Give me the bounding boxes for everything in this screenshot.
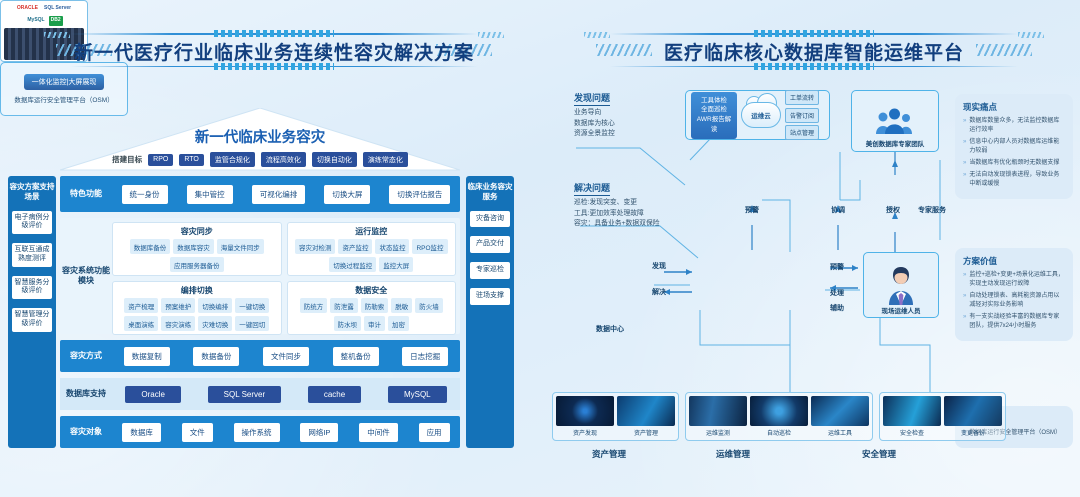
- sidebar-item-inspection[interactable]: 专家巡检: [470, 262, 510, 279]
- tool-tag-site[interactable]: 站点管理: [785, 125, 819, 140]
- card-group-asset: 资产发现 资产管理: [552, 392, 679, 441]
- find-problem-line: 资源全景监控: [574, 129, 615, 140]
- tool-main-line: AWR报告解读: [694, 115, 734, 135]
- pain-point-text: 数据库数量众多，无法监控数据库运行效率: [969, 117, 1065, 135]
- dr-mode-label: 容灾方式: [60, 351, 112, 361]
- database-support-label: 数据库支持: [60, 389, 112, 399]
- arrow-label-assist: 辅助: [830, 303, 844, 313]
- module-tag[interactable]: 审计: [364, 316, 385, 331]
- module-tag[interactable]: 海量文件同步: [217, 239, 264, 254]
- solution-value-panel: 方案价值 » 监控+巡检+变更+场景化运维工具，实现主动发现运行故障 » 自动处…: [955, 248, 1073, 341]
- module-tag[interactable]: 切换过程监控: [329, 257, 376, 272]
- dr-object-items: 数据库 文件 操作系统 网络IP 中间件 应用: [112, 423, 460, 442]
- feature-items: 统一身份 集中管控 可视化编排 切换大屏 切换评估报告: [112, 185, 460, 204]
- modules-row: 容灾系统功能模块 容灾同步 数据库备份 数据库容灾 海量文件同步 应用服务器备份…: [60, 218, 460, 334]
- banner-dots-top: [754, 30, 874, 37]
- dr-mode-chip[interactable]: 整机备份: [333, 347, 379, 366]
- solve-problem-block: 解决问题 巡检:发现突变、变更 工具:更加效率处理故障 容灾：具备业务+数据双保…: [574, 178, 660, 230]
- chevron-icon: »: [963, 138, 966, 156]
- value-item: » 监控+巡检+变更+场景化运维工具，实现主动发现运行故障: [963, 271, 1065, 289]
- module-tag[interactable]: 一键切换: [235, 298, 269, 313]
- module-tag[interactable]: 桌面演练: [124, 316, 158, 331]
- module-tag[interactable]: 灾难切换: [198, 316, 232, 331]
- goal-tag[interactable]: 流程高效化: [261, 152, 306, 167]
- pain-points-panel: 现实痛点 » 数据库数量众多，无法监控数据库运行效率 » 信息中心内部人员对数据…: [955, 94, 1073, 199]
- chevron-icon: »: [963, 117, 966, 135]
- left-page-title: 新一代医疗行业临床业务连续性容灾解决方案: [30, 38, 518, 65]
- tool-main-line: 全面巡检: [694, 105, 734, 115]
- cloud-thumb: [944, 396, 1002, 426]
- dr-object-chip[interactable]: 中间件: [359, 423, 398, 442]
- module-tag[interactable]: 防勒索: [361, 298, 389, 313]
- right-page-title: 医疗临床核心数据库智能运维平台: [570, 38, 1058, 65]
- service-sidebar: 临床业务容灾服务 灾备咨询 产品交付 专家巡检 驻场支撑: [466, 176, 514, 448]
- dr-object-chip[interactable]: 操作系统: [234, 423, 280, 442]
- chevron-icon: »: [963, 271, 966, 289]
- tools-cloud-box: 工具体检 全面巡检 AWR报告解读 运维云 工单流转 告警订阅 站点管理: [685, 90, 830, 140]
- modules-row-label: 容灾系统功能模块: [60, 218, 112, 334]
- module-tag[interactable]: 加密: [388, 316, 409, 331]
- module-card-monitor: 运行监控 容灾对检测 资产监控 状态监控 RPO监控 切换过程监控 监控大屏: [287, 222, 457, 276]
- arrow-label-warning-mid: 预警: [830, 262, 844, 272]
- goal-tag[interactable]: 演练常态化: [363, 152, 408, 167]
- module-tag[interactable]: RPO监控: [412, 239, 447, 254]
- tool-tag-list: 工单流转 告警订阅 站点管理: [785, 90, 819, 140]
- goal-tag[interactable]: RPO: [148, 154, 173, 166]
- feature-row: 特色功能 统一身份 集中管控 可视化编排 切换大屏 切换评估报告: [60, 176, 460, 212]
- feature-chip[interactable]: 集中管控: [187, 185, 233, 204]
- sidebar-item-onsite[interactable]: 驻场支撑: [470, 288, 510, 305]
- feature-chip[interactable]: 统一身份: [122, 185, 168, 204]
- sidebar-item-consulting[interactable]: 灾备咨询: [470, 211, 510, 228]
- feature-chip[interactable]: 切换大屏: [324, 185, 370, 204]
- database-chip-sqlserver[interactable]: SQL Server: [208, 386, 282, 403]
- house-roof: 新一代临床业务容灾 搭建目标 RPO RTO 监管合规化 流程高效化 切换自动化…: [60, 108, 460, 174]
- solution-value-title: 方案价值: [963, 255, 1065, 267]
- arrow-label-warning-top: 预警: [745, 205, 759, 215]
- operator-thumb: [689, 396, 747, 426]
- module-card-security: 数据安全 防统方 防泄露 防勒索 脱敏 防火墙 防水坝 审计 加密: [287, 281, 457, 335]
- value-item: » 自动处理锁表、高耗能资源占用以减轻对实际业务影响: [963, 292, 1065, 310]
- left-panel: 新一代医疗行业临床业务连续性容灾解决方案 新一代临床业务容灾 搭建目标 RPO …: [0, 0, 540, 497]
- thumb-item[interactable]: 运维工具: [811, 396, 869, 437]
- shield-thumb: [750, 396, 808, 426]
- thumb-item[interactable]: 自动巡检: [750, 396, 808, 437]
- sidebar-item-smart-mgmt[interactable]: 智慧管理分级评价: [12, 308, 52, 332]
- people-icon: [872, 108, 918, 138]
- module-title: 运行监控: [292, 226, 452, 237]
- pain-point-item: » 当数据库有优化瓶颈时无数据支撑: [963, 159, 1065, 168]
- pain-point-text: 信息中心内部人员对数据库运维能力较弱: [969, 138, 1065, 156]
- tool-main-card[interactable]: 工具体检 全面巡检 AWR报告解读: [691, 92, 737, 139]
- dr-object-chip[interactable]: 应用: [419, 423, 450, 442]
- thumb-caption: 自动巡检: [767, 428, 791, 437]
- expert-team-caption: 美创数据库专家团队: [866, 138, 925, 148]
- module-tag[interactable]: 防火墙: [415, 298, 443, 313]
- thumb-caption: 资产管理: [634, 428, 658, 437]
- thumb-item[interactable]: 变更备份: [944, 396, 1002, 437]
- find-problem-title: 发现问题: [574, 91, 610, 106]
- dr-mode-chip[interactable]: 数据复制: [124, 347, 170, 366]
- arrow-label-solve: 解决: [652, 287, 666, 297]
- radar-thumb: [556, 396, 614, 426]
- dr-mode-chip[interactable]: 数据备份: [193, 347, 239, 366]
- modules-grid: 容灾同步 数据库备份 数据库容灾 海量文件同步 应用服务器备份 运行监控 容灾对…: [112, 218, 460, 334]
- module-card-orchestration: 编排切换 资产梳理 预案维护 切换编排 一键切换 桌面演练 容灾演练 灾难切换 …: [112, 281, 282, 335]
- database-chip-oracle[interactable]: Oracle: [125, 386, 181, 403]
- solve-problem-line: 容灾：具备业务+数据双保险: [574, 219, 660, 230]
- pain-point-item: » 数据库数量众多，无法监控数据库运行效率: [963, 117, 1065, 135]
- data-center-caption: 数据中心: [566, 324, 654, 334]
- thumb-item[interactable]: 安全检查: [883, 396, 941, 437]
- solve-problem-line: 工具:更加效率处理故障: [574, 209, 660, 220]
- value-text: 监控+巡检+变更+场景化运维工具，实现主动发现运行故障: [969, 271, 1065, 289]
- module-tag[interactable]: 资产监控: [338, 239, 372, 254]
- cloud-icon: 运维云: [741, 102, 781, 128]
- thumb-caption: 变更备份: [961, 428, 985, 437]
- solve-problem-title: 解决问题: [574, 181, 610, 196]
- chevron-icon: »: [963, 313, 966, 331]
- cloud-label: 运维云: [741, 102, 781, 128]
- pain-point-text: 无法自动发现锁表进程，导致业务中断或缓慢: [969, 171, 1065, 189]
- module-tag[interactable]: 应用服务器备份: [170, 257, 224, 272]
- dr-object-row: 容灾对象 数据库 文件 操作系统 网络IP 中间件 应用: [60, 416, 460, 448]
- dr-mode-chip[interactable]: 文件同步: [263, 347, 309, 366]
- goal-tag[interactable]: 监管合规化: [210, 152, 255, 167]
- dr-object-chip[interactable]: 网络IP: [300, 423, 338, 442]
- module-card-sync: 容灾同步 数据库备份 数据库容灾 海量文件同步 应用服务器备份: [112, 222, 282, 276]
- thumb-item[interactable]: 资产管理: [617, 396, 675, 437]
- feature-chip[interactable]: 可视化编排: [252, 185, 306, 204]
- dr-object-chip[interactable]: 文件: [182, 423, 213, 442]
- dr-mode-chip[interactable]: 日志挖掘: [402, 347, 448, 366]
- onsite-staff-box[interactable]: 现场运维人员: [863, 252, 939, 318]
- module-tag[interactable]: 数据库容灾: [173, 239, 214, 254]
- module-tags: 容灾对检测 资产监控 状态监控 RPO监控 切换过程监控 监控大屏: [292, 239, 452, 272]
- sidebar-item-emr[interactable]: 电子病例分级评价: [12, 211, 52, 235]
- chevron-icon: »: [963, 171, 966, 189]
- module-tag[interactable]: 状态监控: [375, 239, 409, 254]
- database-support-row: 数据库支持 Oracle SQL Server cache MySQL: [60, 378, 460, 410]
- find-problem-line: 业务导向: [574, 108, 615, 119]
- person-icon: [881, 263, 921, 305]
- find-problem-block: 发现问题 业务导向 数据库为核心 资源全景监控: [574, 88, 615, 140]
- module-tag[interactable]: 数据库备份: [130, 239, 171, 254]
- pain-point-text: 当数据库有优化瓶颈时无数据支撑: [969, 159, 1059, 168]
- module-title: 编排切换: [117, 285, 277, 296]
- module-tag[interactable]: 预案维护: [161, 298, 195, 313]
- roof-title: 新一代临床业务容灾: [60, 126, 460, 147]
- goal-tag[interactable]: 切换自动化: [312, 152, 357, 167]
- group-caption-ops: 运维管理: [716, 448, 750, 460]
- sidebar-item-smart-service[interactable]: 智慧服务分级评价: [12, 276, 52, 300]
- scenario-sidebar-title: 容灾方案支持场景: [8, 182, 56, 202]
- module-tag[interactable]: 资产梳理: [124, 298, 158, 313]
- module-tag[interactable]: 容灾演练: [161, 316, 195, 331]
- pain-points-title: 现实痛点: [963, 101, 1065, 113]
- network-thumb: [617, 396, 675, 426]
- left-banner: 新一代医疗行业临床业务连续性容灾解决方案: [30, 30, 518, 70]
- dr-object-label: 容灾对象: [60, 427, 112, 437]
- right-banner: 医疗临床核心数据库智能运维平台: [570, 30, 1058, 70]
- arrow-label-coordinate: 协调: [831, 205, 845, 215]
- dr-object-chip[interactable]: 数据库: [122, 423, 161, 442]
- solve-problem-line: 巡检:发现突变、变更: [574, 198, 660, 209]
- module-tag[interactable]: 监控大屏: [379, 257, 413, 272]
- module-tags: 数据库备份 数据库容灾 海量文件同步 应用服务器备份: [117, 239, 277, 272]
- feature-chip[interactable]: 切换评估报告: [389, 185, 450, 204]
- pain-point-item: » 信息中心内部人员对数据库运维能力较弱: [963, 138, 1065, 156]
- thumb-caption: 运维监测: [706, 428, 730, 437]
- group-caption-asset: 资产管理: [592, 448, 626, 460]
- expert-team-box[interactable]: 美创数据库专家团队: [851, 90, 939, 152]
- group-caption-security: 安全管理: [862, 448, 896, 460]
- module-tag[interactable]: 防泄露: [330, 298, 358, 313]
- arrow-label-authorize: 授权: [886, 205, 900, 215]
- database-chip-mysql[interactable]: MySQL: [388, 386, 447, 403]
- module-tag[interactable]: 容灾对检测: [295, 239, 336, 254]
- arrow-label-handle: 处理: [830, 288, 844, 298]
- module-tags: 资产梳理 预案维护 切换编排 一键切换 桌面演练 容灾演练 灾难切换 一键回切: [117, 298, 277, 331]
- tool-tag-workorder[interactable]: 工单流转: [785, 90, 819, 105]
- service-sidebar-title: 临床业务容灾服务: [466, 182, 514, 202]
- chevron-icon: »: [963, 292, 966, 310]
- thumb-caption: 运维工具: [828, 428, 852, 437]
- scenario-sidebar: 容灾方案支持场景 电子病例分级评价 互联互通成熟度测评 智慧服务分级评价 智慧管…: [8, 176, 56, 448]
- card-group-security: 安全检查 变更备份: [879, 392, 1006, 441]
- module-title: 数据安全: [292, 285, 452, 296]
- chevron-icon: »: [963, 159, 966, 168]
- thumb-item[interactable]: 资产发现: [556, 396, 614, 437]
- module-tag[interactable]: 切换编排: [198, 298, 232, 313]
- nodes-thumb: [811, 396, 869, 426]
- value-text: 有一支实战经验丰富的数据库专家团队，提供7x24小时服务: [969, 313, 1065, 331]
- tool-tag-alert[interactable]: 告警订阅: [785, 108, 819, 123]
- pain-point-item: » 无法自动发现锁表进程，导致业务中断或缓慢: [963, 171, 1065, 189]
- banner-dots-top: [214, 30, 334, 37]
- sidebar-item-delivery[interactable]: 产品交付: [470, 236, 510, 253]
- module-title: 容灾同步: [117, 226, 277, 237]
- thumb-item[interactable]: 运维监测: [689, 396, 747, 437]
- value-item: » 有一支实战经验丰富的数据库专家团队，提供7x24小时服务: [963, 313, 1065, 331]
- database-support-items: Oracle SQL Server cache MySQL: [112, 386, 460, 403]
- module-tags: 防统方 防泄露 防勒索 脱敏 防火墙 防水坝 审计 加密: [292, 298, 452, 331]
- arrow-label-expert-service: 专家服务: [918, 205, 946, 215]
- thumb-caption: 资产发现: [573, 428, 597, 437]
- goal-row: 搭建目标 RPO RTO 监管合规化 流程高效化 切换自动化 演练常态化: [60, 152, 460, 167]
- hand-thumb: [883, 396, 941, 426]
- dr-mode-items: 数据复制 数据备份 文件同步 整机备份 日志挖掘: [112, 347, 460, 366]
- dr-mode-row: 容灾方式 数据复制 数据备份 文件同步 整机备份 日志挖掘: [60, 340, 460, 372]
- goal-label: 搭建目标: [112, 154, 142, 165]
- feature-row-label: 特色功能: [60, 189, 112, 199]
- find-problem-line: 数据库为核心: [574, 119, 615, 130]
- module-tag[interactable]: 防水坝: [334, 316, 362, 331]
- sidebar-item-interop[interactable]: 互联互通成熟度测评: [12, 243, 52, 267]
- goal-tag[interactable]: RTO: [179, 154, 204, 166]
- module-tag[interactable]: 防统方: [300, 298, 328, 313]
- arrow-label-find: 发现: [652, 261, 666, 271]
- value-text: 自动处理锁表、高耗能资源占用以减轻对实际业务影响: [969, 292, 1065, 310]
- capability-card-row: 资产发现 资产管理 运维监测 自动巡检 运维工具 安全检查 变更备份: [552, 392, 964, 441]
- module-tag[interactable]: 脱敏: [391, 298, 412, 313]
- onsite-staff-caption: 现场运维人员: [882, 305, 921, 315]
- database-chip-cache[interactable]: cache: [308, 386, 361, 403]
- thumb-caption: 安全检查: [900, 428, 924, 437]
- card-group-ops: 运维监测 自动巡检 运维工具: [685, 392, 873, 441]
- module-tag[interactable]: 一键回切: [235, 316, 269, 331]
- tool-main-line: 工具体检: [694, 96, 734, 106]
